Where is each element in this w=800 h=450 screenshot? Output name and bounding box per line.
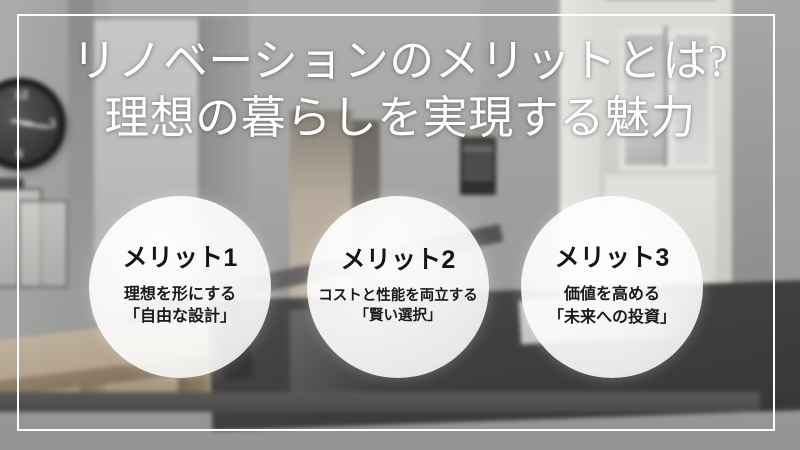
- calendar-rows: [463, 143, 493, 191]
- benefit-circle-group: メリット1 理想を形にする 「自由な設計」 メリット2 コストと性能を両立する …: [0, 196, 800, 380]
- benefit-3-line-1: 価値を高める: [564, 284, 660, 307]
- benefit-3-line-2: 「未来への投資」: [548, 307, 676, 330]
- benefit-circle-2[interactable]: メリット2 コストと性能を両立する 「賢い選択」: [307, 196, 489, 378]
- benefit-circle-1[interactable]: メリット1 理想を形にする 「自由な設計」: [89, 196, 271, 378]
- benefit-2-line-2: 「賢い選択」: [355, 306, 442, 327]
- benefit-1-heading: メリット1: [123, 245, 238, 273]
- benefit-circle-3[interactable]: メリット3 価値を高める 「未来への投資」: [521, 196, 703, 378]
- benefit-2-line-1: コストと性能を両立する: [318, 286, 478, 307]
- page-title-line-2: 理想の暮らしを実現する魅力: [0, 90, 800, 147]
- slide-canvas: 12 3 6 9 リ: [0, 0, 800, 450]
- benefit-1-line-1: 理想を形にする: [124, 284, 236, 307]
- clock-number-6: 6: [16, 146, 23, 161]
- foreground-shadow-band: [0, 392, 760, 412]
- benefit-3-heading: メリット3: [555, 245, 670, 273]
- page-title: リノベーションのメリットとは? 理想の暮らしを実現する魅力: [0, 33, 800, 146]
- benefit-2-heading: メリット2: [341, 247, 456, 275]
- benefit-1-line-2: 「自由な設計」: [124, 306, 236, 329]
- page-title-line-1: リノベーションのメリットとは?: [72, 36, 729, 86]
